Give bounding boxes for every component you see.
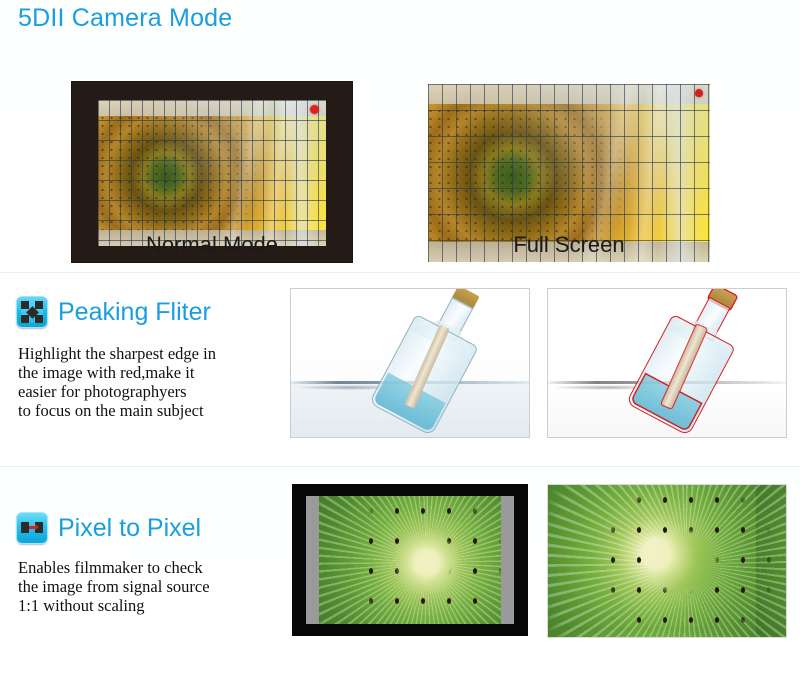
feature-peaking-filter: Peaking Fliter Highlight the sharpest ed… [0,278,800,458]
section-divider-1 [0,272,800,273]
peaking-photo-before [290,288,530,438]
peaking-description-line: the image with red,make it [18,363,273,382]
peaking-description: Highlight the sharpest edge in the image… [18,344,273,420]
peaking-description-line: easier for photographyers [18,382,273,401]
bottle-normal [369,288,496,436]
kiwi-screen-scaled [306,496,514,624]
normal-mode-screen [98,100,326,246]
peaking-photo-after [547,288,787,438]
caption-full-screen: Full Screen [428,232,710,258]
peaking-icon-bracket-tl [21,301,29,309]
pixel-to-pixel-description-line: 1:1 without scaling [18,596,273,615]
bottle-scene-peaking [548,289,786,437]
product-feature-page: 5DII Camera Mode Normal Mode Full S [0,0,800,698]
pixel-to-pixel-icon-square-left [21,522,29,533]
rec-indicator-heart [695,89,703,97]
peaking-description-line: to focus on the main subject [18,401,273,420]
pixel-to-pixel-description-line: Enables filmmaker to check [18,558,273,577]
page-title: 5DII Camera Mode [18,4,232,33]
pixel-to-pixel-photo-after [547,484,787,638]
peaking-title: Peaking Fliter [58,298,211,327]
camera-mode-section: Normal Mode Full Screen [0,38,800,270]
bottle-scene-normal [291,289,529,437]
section-divider-2 [0,466,800,467]
pillarbox-left [306,496,319,624]
waterline [548,381,786,384]
pixel-to-pixel-title: Pixel to Pixel [58,514,201,543]
letterbox-band-top [428,84,710,104]
feature-pixel-to-pixel: Pixel to Pixel Enables filmmaker to chec… [0,472,800,672]
kiwi-image-pixel-to-pixel [548,485,786,637]
pixel-to-pixel-description: Enables filmmaker to check the image fro… [18,558,273,615]
sunflower-image-normal [98,100,326,246]
peaking-icon-bracket-br [35,315,43,323]
peaking-icon-bracket-bl [21,315,29,323]
rec-indicator-dot [310,105,319,114]
pixel-to-pixel-icon-arrow [29,526,36,529]
caption-normal-mode: Normal Mode [72,232,352,258]
peaking-header: Peaking Fliter [16,296,211,328]
pillarbox-right [501,496,514,624]
letterbox-band-top [98,100,326,116]
pixel-to-pixel-photo-before [292,484,528,636]
pixel-to-pixel-header: Pixel to Pixel [16,512,201,544]
peaking-icon-bracket-tr [35,301,43,309]
peaking-description-line: Highlight the sharpest edge in [18,344,273,363]
kiwi-image-scaled [306,496,514,624]
peaking-icon [16,296,48,328]
pixel-to-pixel-icon [16,512,48,544]
pixel-to-pixel-description-line: the image from signal source [18,577,273,596]
